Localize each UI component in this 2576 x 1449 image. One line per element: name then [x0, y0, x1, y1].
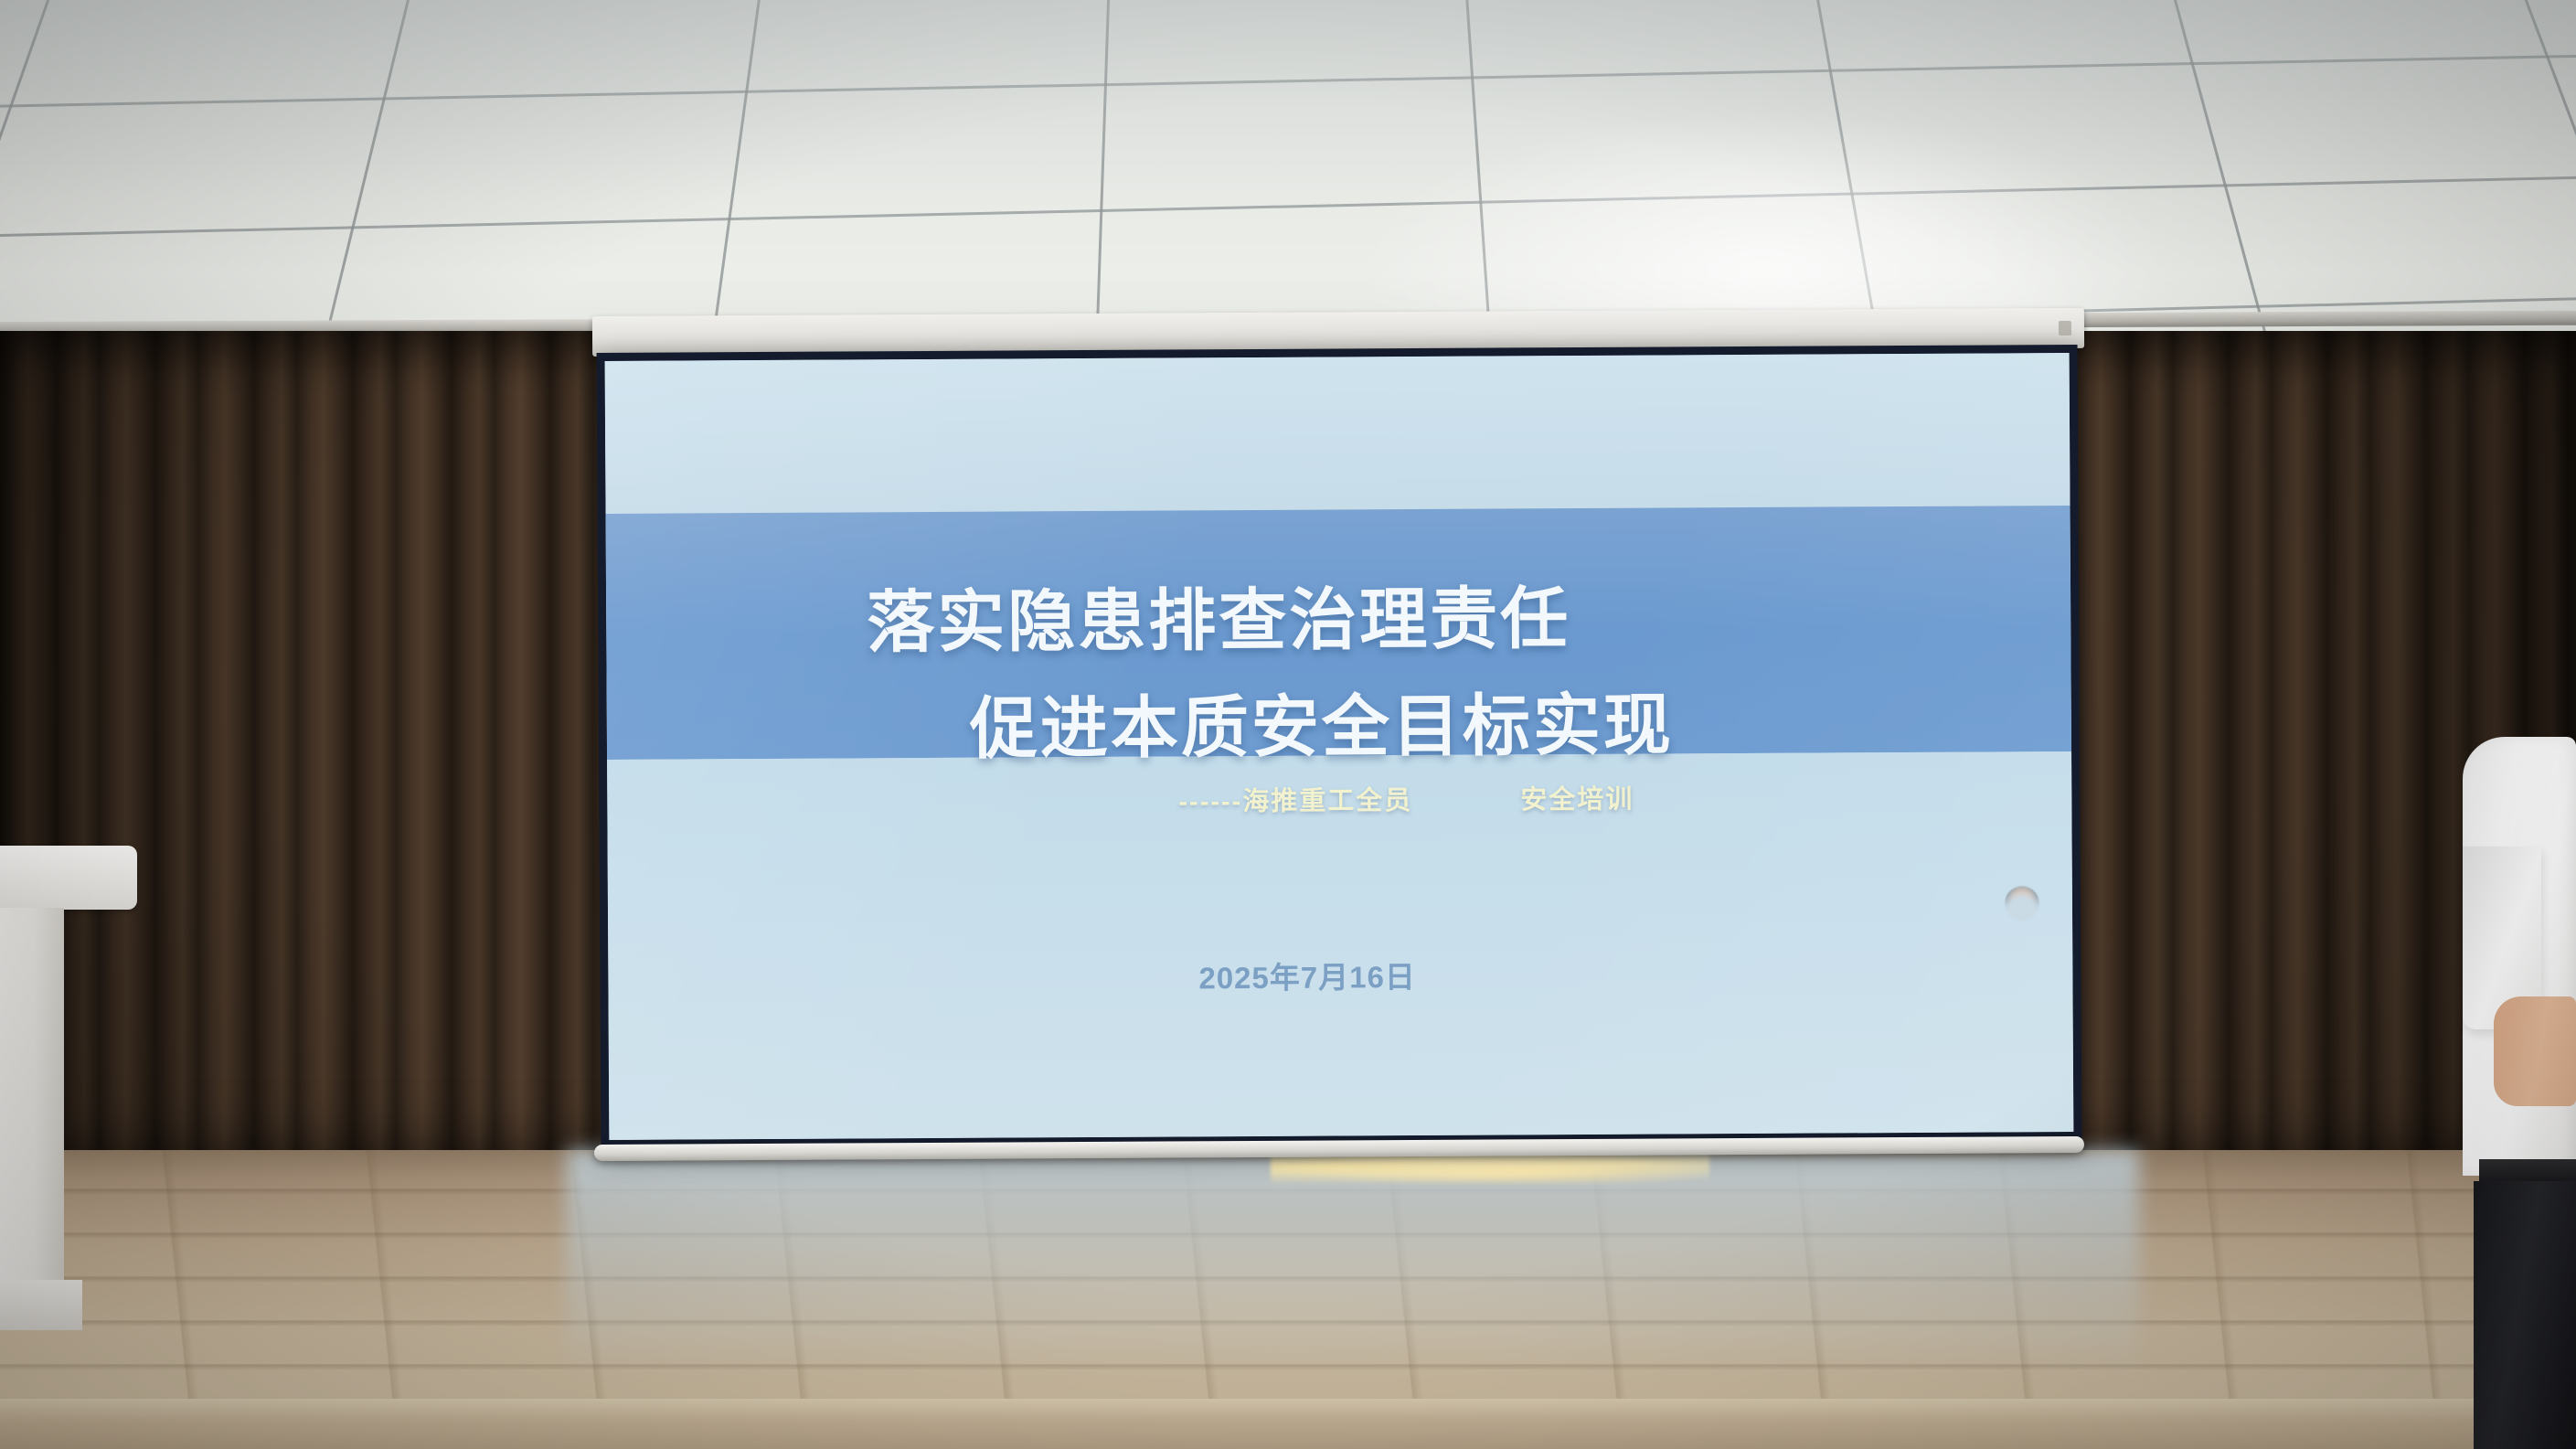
person-in-white-shirt: [2463, 737, 2576, 1449]
slide-subtitle-row: ------海推重工全员 安全培训: [1178, 778, 1634, 819]
lectern-base: [0, 1280, 82, 1330]
person-arm: [2494, 996, 2576, 1106]
slide-title-line-2: 促进本质安全目标实现: [970, 670, 1675, 772]
slide-top-panel: [605, 353, 2070, 514]
slide-title-line-1: 落实隐患排查治理责任: [867, 564, 1571, 666]
slide-subtitle-left: ------海推重工全员: [1178, 779, 1412, 818]
slide-surface: 落实隐患排查治理责任 促进本质安全目标实现 ------海推重工全员 安全培训 …: [605, 353, 2074, 1140]
slide-date: 2025年7月16日: [1198, 953, 1416, 997]
lectern-top: [0, 846, 137, 910]
housing-endcap-icon: [2059, 321, 2071, 336]
person-trousers: [2474, 1181, 2576, 1449]
floor-front-edge: [0, 1399, 2576, 1449]
conference-room-scene: 落实隐患排查治理责任 促进本质安全目标实现 ------海推重工全员 安全培训 …: [0, 0, 2576, 1449]
ceiling-tile-grid: [0, 0, 2576, 366]
lectern-body: [0, 908, 64, 1287]
ceiling: [0, 0, 2576, 366]
projection-screen: 落实隐患排查治理责任 促进本质安全目标实现 ------海推重工全员 安全培训 …: [597, 345, 2082, 1148]
slide-avatar-icon: [2005, 886, 2039, 921]
slide-subtitle-right: 安全培训: [1520, 778, 1634, 817]
